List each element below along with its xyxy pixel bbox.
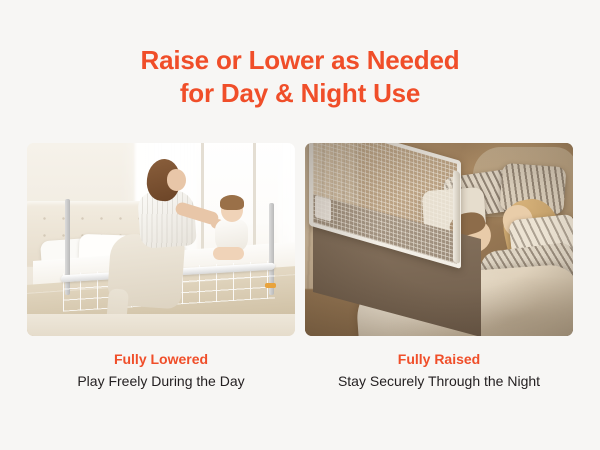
caption-title: Fully Lowered bbox=[27, 350, 295, 368]
photo-vignette bbox=[305, 143, 573, 336]
bedroom-floor bbox=[27, 314, 295, 336]
comparison-panels: Fully Lowered Play Freely During the Day bbox=[27, 143, 573, 390]
panel-fully-lowered: Fully Lowered Play Freely During the Day bbox=[27, 143, 295, 390]
bed-rail-clamp bbox=[265, 283, 276, 288]
caption-title: Fully Raised bbox=[305, 350, 573, 368]
caption-fully-raised: Fully Raised Stay Securely Through the N… bbox=[305, 350, 573, 390]
caption-fully-lowered: Fully Lowered Play Freely During the Day bbox=[27, 350, 295, 390]
photo-fully-lowered bbox=[27, 143, 295, 336]
toddler-legs bbox=[213, 247, 244, 260]
photo-fully-raised bbox=[305, 143, 573, 336]
page-title-line-2: for Day & Night Use bbox=[0, 77, 600, 110]
caption-subtitle: Stay Securely Through the Night bbox=[305, 372, 573, 390]
caption-subtitle: Play Freely During the Day bbox=[27, 372, 295, 390]
page-title-line-1: Raise or Lower as Needed bbox=[0, 44, 600, 77]
toddler-hair bbox=[220, 195, 244, 210]
panel-fully-raised: Fully Raised Stay Securely Through the N… bbox=[305, 143, 573, 390]
mother-face bbox=[167, 169, 186, 191]
page-title: Raise or Lower as Needed for Day & Night… bbox=[0, 44, 600, 111]
